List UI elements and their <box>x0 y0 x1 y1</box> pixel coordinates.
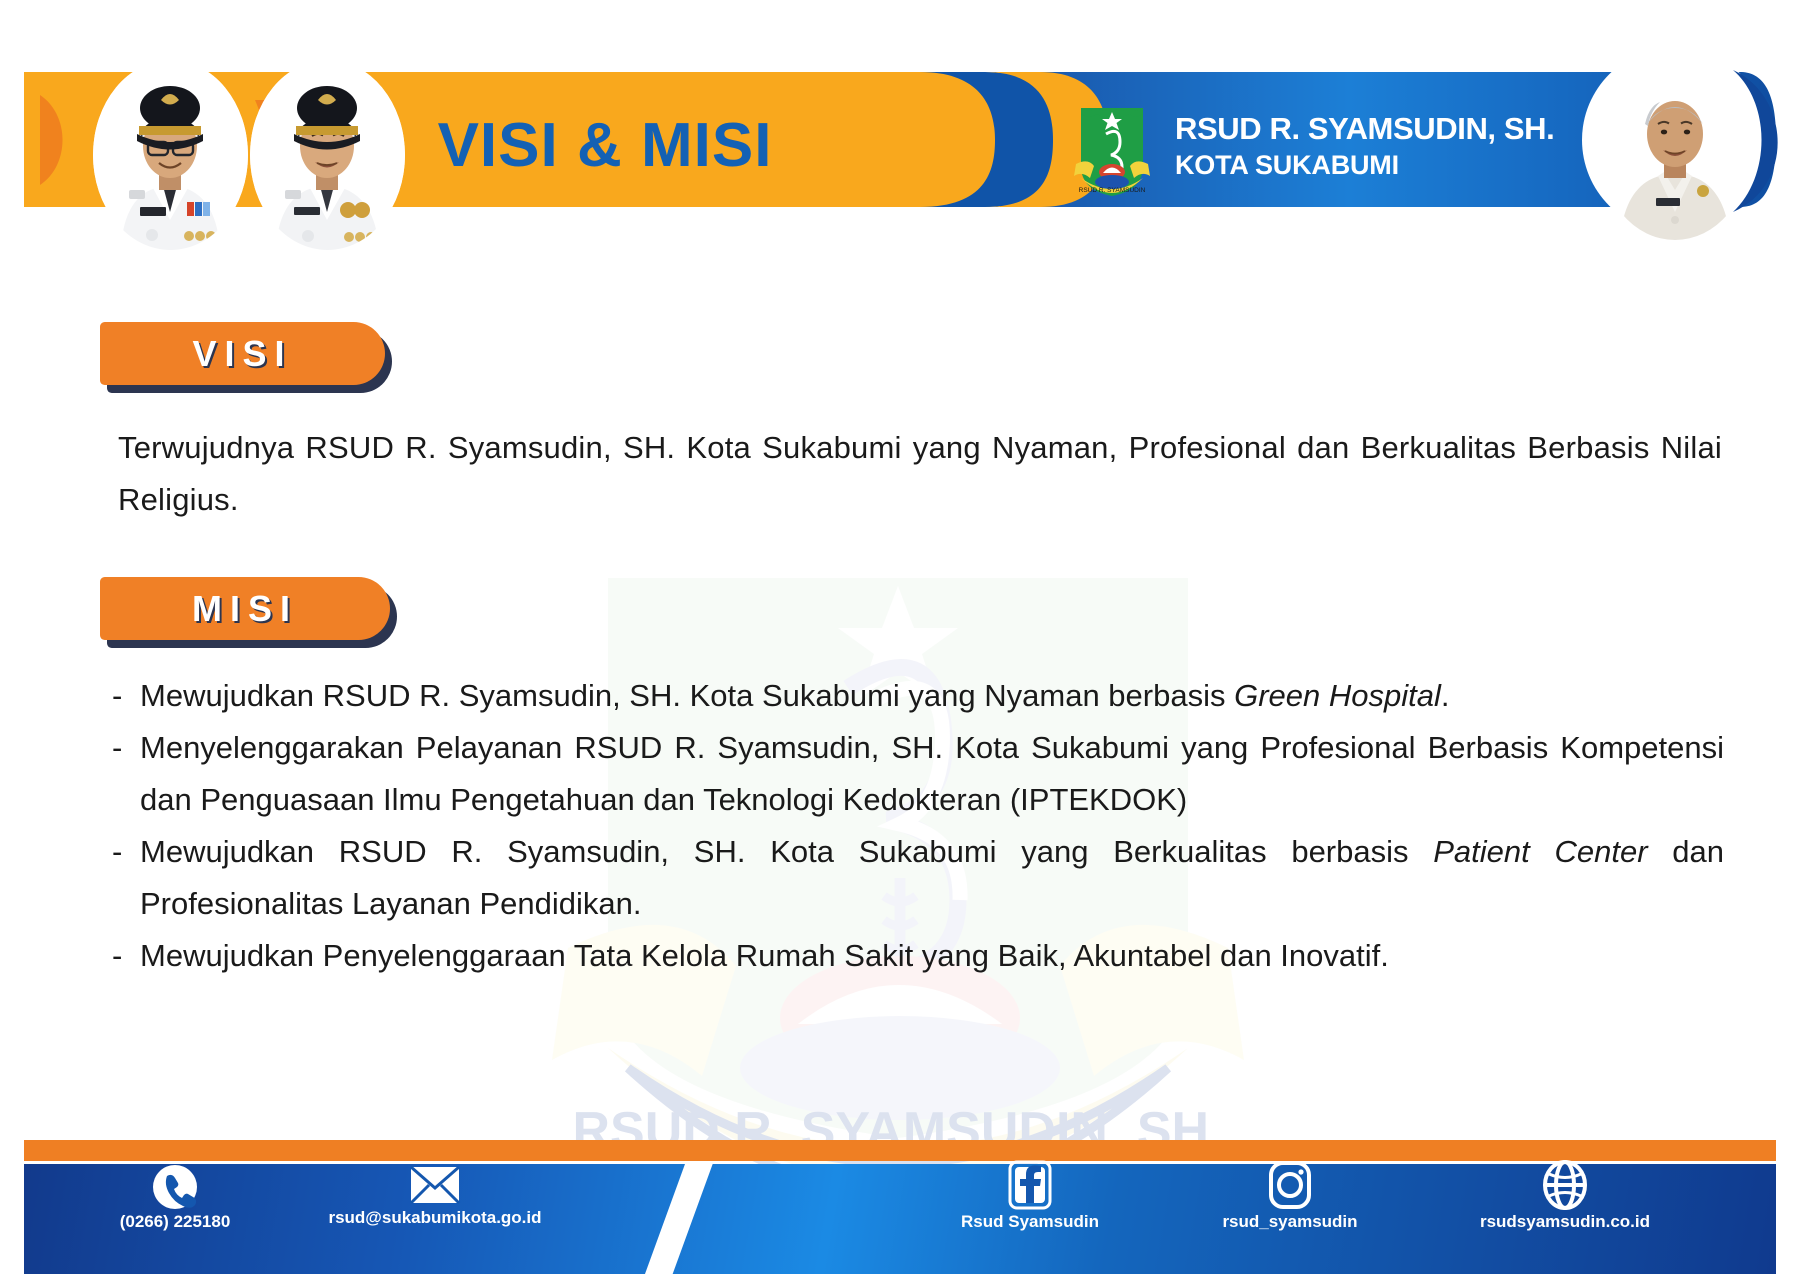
instagram-icon <box>1267 1160 1313 1210</box>
vice-mayor-portrait <box>250 60 405 250</box>
misi-item-text: Mewujudkan RSUD R. Syamsudin, SH. Kota S… <box>140 826 1724 930</box>
contact-email[interactable]: rsud@sukabumikota.go.id <box>290 1164 580 1228</box>
misi-list: -Mewujudkan RSUD R. Syamsudin, SH. Kota … <box>112 670 1724 982</box>
email-icon <box>409 1164 461 1206</box>
page-footer: (0266) 225180 rsud@sukabumikota.go.id Rs… <box>0 1140 1800 1274</box>
misi-item-text: Mewujudkan Penyelenggaraan Tata Kelola R… <box>140 930 1724 982</box>
contact-instagram-label: rsud_syamsudin <box>1160 1212 1420 1232</box>
contact-instagram[interactable]: rsud_syamsudin <box>1160 1160 1420 1232</box>
page-title: VISI & MISI <box>405 110 805 181</box>
misi-item: -Mewujudkan RSUD R. Syamsudin, SH. Kota … <box>112 826 1724 930</box>
visi-badge: VISI <box>100 322 385 385</box>
misi-item: -Mewujudkan Penyelenggaraan Tata Kelola … <box>112 930 1724 982</box>
contact-website[interactable]: rsudsyamsudin.co.id <box>1420 1160 1710 1232</box>
misi-bullet-marker: - <box>112 826 140 878</box>
contact-facebook[interactable]: Rsud Syamsudin <box>900 1160 1160 1232</box>
footer-divider-slash <box>634 1164 720 1274</box>
misi-badge: MISI <box>100 577 390 640</box>
page-header: VISI & MISI RSUD R. SYAMSUDIN RSUD R. SY… <box>0 0 1800 270</box>
facebook-icon <box>1007 1160 1053 1210</box>
misi-item-text: Mewujudkan RSUD R. Syamsudin, SH. Kota S… <box>140 670 1724 722</box>
footer-orange-bar <box>24 1140 1776 1161</box>
contact-email-label: rsud@sukabumikota.go.id <box>290 1208 580 1228</box>
visi-text: Terwujudnya RSUD R. Syamsudin, SH. Kota … <box>118 422 1722 526</box>
misi-bullet-marker: - <box>112 930 140 982</box>
hospital-name-block: RSUD R. SYAMSUDIN, SH. KOTA SUKABUMI <box>1175 110 1554 182</box>
contact-website-label: rsudsyamsudin.co.id <box>1420 1212 1710 1232</box>
main-content: RSUD R. SYAMSUDIN, SH. VISI Terwujudnya … <box>0 270 1800 1140</box>
phone-icon <box>152 1164 198 1210</box>
hospital-name-line2: KOTA SUKABUMI <box>1175 148 1554 182</box>
misi-item-text: Menyelenggarakan Pelayanan RSUD R. Syams… <box>140 722 1724 826</box>
misi-item: -Mewujudkan RSUD R. Syamsudin, SH. Kota … <box>112 670 1724 722</box>
contact-facebook-label: Rsud Syamsudin <box>900 1212 1160 1232</box>
misi-item: -Menyelenggarakan Pelayanan RSUD R. Syam… <box>112 722 1724 826</box>
globe-icon <box>1541 1160 1589 1210</box>
misi-bullet-marker: - <box>112 670 140 722</box>
misi-bullet-marker: - <box>112 722 140 774</box>
hospital-crest-icon: RSUD R. SYAMSUDIN <box>1073 100 1151 198</box>
hospital-name-line1: RSUD R. SYAMSUDIN, SH. <box>1175 110 1554 148</box>
contact-phone[interactable]: (0266) 225180 <box>60 1164 290 1232</box>
contact-phone-label: (0266) 225180 <box>60 1212 290 1232</box>
mayor-portrait <box>93 60 248 250</box>
director-portrait <box>1600 62 1750 240</box>
svg-text:RSUD R. SYAMSUDIN: RSUD R. SYAMSUDIN <box>1079 187 1146 194</box>
